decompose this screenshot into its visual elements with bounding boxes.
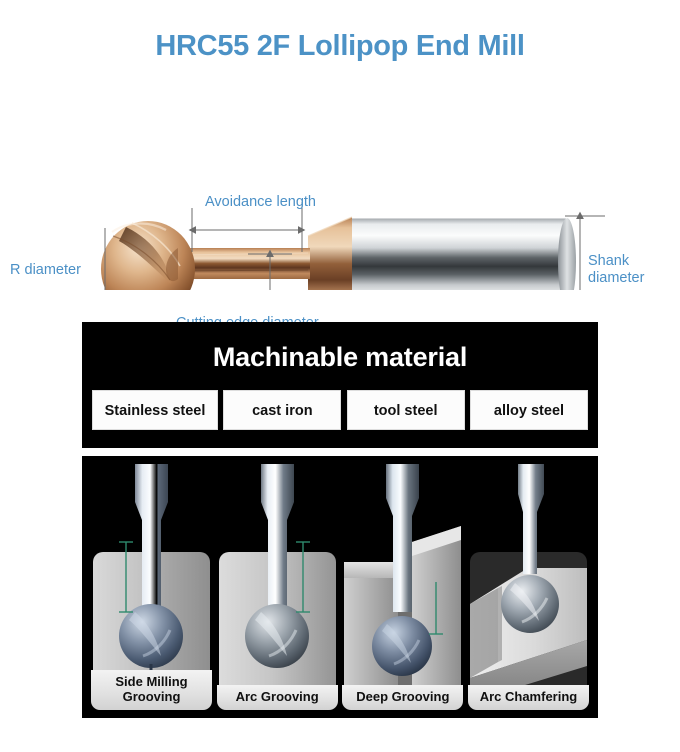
application-card-list: Side Milling Grooving <box>91 464 589 710</box>
material-chip-list: Stainless steel cast iron tool steel all… <box>92 390 588 430</box>
label-shank-diameter: Shank diameter <box>588 253 644 287</box>
application-card-label-line2: Grooving <box>123 689 181 704</box>
arc-chamfering-illustration <box>468 464 589 710</box>
material-chip-stainless-steel: Stainless steel <box>92 390 218 430</box>
end-mill-illustration <box>0 90 680 290</box>
material-chip-tool-steel: tool steel <box>347 390 465 430</box>
application-card-label-line1: Arc Grooving <box>236 689 319 704</box>
arc-grooving-illustration <box>217 464 338 710</box>
material-chip-cast-iron: cast iron <box>223 390 341 430</box>
application-card-arc-grooving: Arc Grooving <box>217 464 338 710</box>
label-avoidance-length: Avoidance length <box>205 194 293 211</box>
page-title: HRC55 2F Lollipop End Mill <box>0 30 680 63</box>
deep-grooving-illustration <box>342 464 463 710</box>
spec-diagram: R diameter Avoidance length Cutting edge… <box>0 90 680 290</box>
application-card-deep-grooving: Deep Grooving <box>342 464 463 710</box>
machinable-material-heading: Machinable material <box>82 342 598 373</box>
application-card-label: Arc Grooving <box>217 685 338 710</box>
label-shank-diameter-line2: diameter <box>588 270 644 286</box>
applications-panel: Side Milling Grooving <box>82 456 598 718</box>
label-shank-diameter-line1: Shank <box>588 253 629 269</box>
application-card-label: Side Milling Grooving <box>91 670 212 710</box>
application-card-label: Deep Grooving <box>342 685 463 710</box>
machinable-material-panel: Machinable material Stainless steel cast… <box>82 322 598 448</box>
tool-body <box>101 217 576 290</box>
application-card-label-line1: Deep Grooving <box>356 689 449 704</box>
application-card-label-line1: Side Milling <box>115 674 187 689</box>
material-chip-alloy-steel: alloy steel <box>470 390 588 430</box>
application-card-arc-chamfering: Arc Chamfering <box>468 464 589 710</box>
application-card-side-milling-grooving: Side Milling Grooving <box>91 464 212 710</box>
label-r-diameter: R diameter <box>10 262 81 279</box>
application-card-label: Arc Chamfering <box>468 685 589 710</box>
application-card-label-line1: Arc Chamfering <box>480 689 578 704</box>
